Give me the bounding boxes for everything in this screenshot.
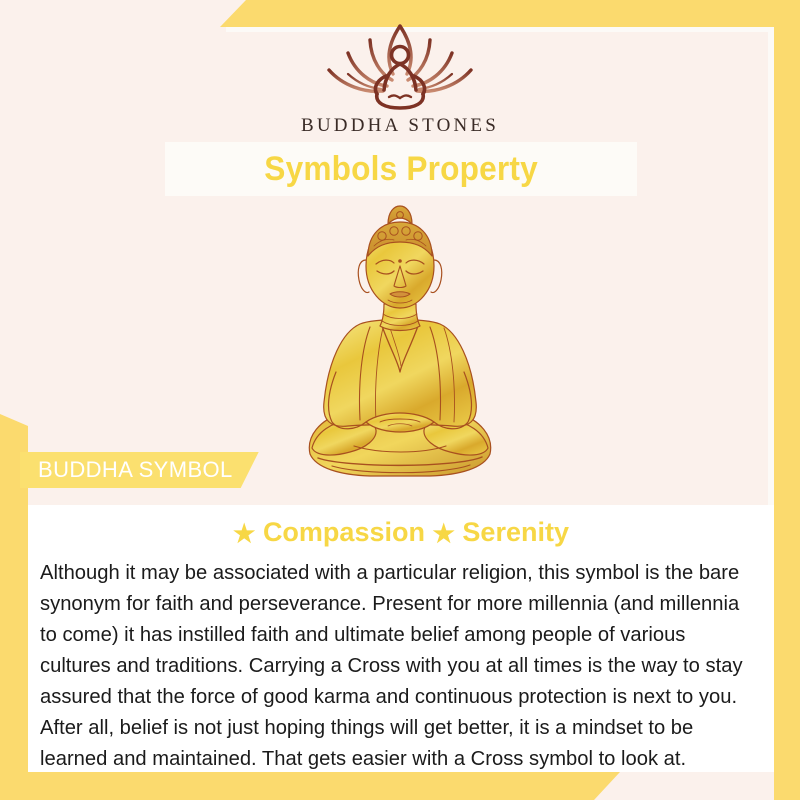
headline-word-compassion: Compassion [263,517,425,547]
content-panel: ★ Compassion ★ Serenity Although it may … [28,505,774,772]
section-ribbon: BUDDHA SYMBOL [20,452,259,488]
title-banner: Symbols Property [165,142,637,196]
body-paragraph: Although it may be associated with a par… [40,557,751,774]
brand-logo: BUDDHA STONES [0,18,800,137]
poster-canvas: BUDDHA STONES Symbols Property [0,0,800,800]
headline-word-serenity: Serenity [462,517,569,547]
star-icon-2: ★ [432,520,454,548]
ribbon-label: BUDDHA SYMBOL [38,457,233,483]
lotus-meditation-icon [315,18,485,113]
frame-band-bottom [0,772,620,800]
star-icon-1: ★ [233,520,255,548]
content-headline: ★ Compassion ★ Serenity [28,517,774,549]
page-title: Symbols Property [264,150,538,189]
brand-name: BUDDHA STONES [0,115,800,137]
buddha-statue-image [270,196,530,496]
